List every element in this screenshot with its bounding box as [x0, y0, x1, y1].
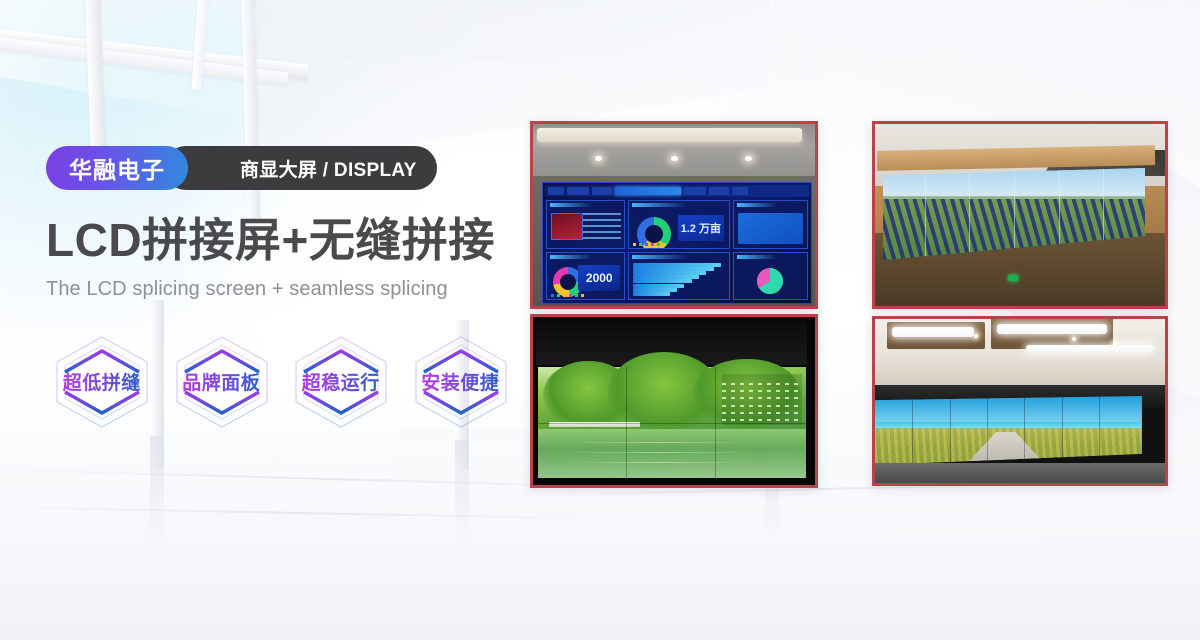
category-pill: 商显大屏 / DISPLAY — [164, 146, 437, 190]
flow-diagram — [738, 213, 803, 244]
pillar-reflection-2 — [455, 440, 469, 540]
page-title: LCD拼接屏+无缝拼接 — [46, 216, 516, 266]
dashboard-panel-intro — [546, 200, 625, 249]
spot-light-3 — [745, 156, 752, 161]
feature-badge-1-label: 超低拼缝 — [63, 368, 141, 395]
photo-content — [875, 319, 1165, 483]
ceiling-light-1 — [892, 327, 973, 337]
photo-content: 1.2 万亩 — [533, 124, 815, 306]
ceiling-light-2 — [997, 324, 1107, 334]
feature-badge-2: 品牌面板 — [166, 329, 278, 435]
sky-region — [875, 396, 1142, 424]
dashboard-metric-1: 1.2 万亩 — [678, 215, 724, 241]
ceiling-beam-horizontal-1 — [0, 26, 309, 80]
dashboard-panel-donut: 1.2 万亩 — [628, 200, 730, 249]
dashboard-legend — [633, 243, 725, 246]
product-photo-willow-pond-video-wall — [530, 314, 818, 488]
pond-water — [538, 429, 806, 478]
product-photo-dashboard-video-wall: 1.2 万亩 — [530, 121, 818, 309]
dashboard-panel-pies — [733, 252, 808, 301]
floor — [875, 463, 1165, 483]
feature-badge-row: 超低拼缝 品牌面板 超稳运行 — [46, 329, 516, 435]
lcd-video-wall-screen — [538, 367, 806, 478]
ceiling-beam-vertical-1 — [85, 0, 107, 170]
feature-badge-4-label: 安装便捷 — [421, 368, 499, 395]
brand-pill-row: 商显大屏 / DISPLAY 华融电子 — [46, 146, 516, 190]
exit-sign — [1008, 275, 1018, 281]
lcd-video-wall-screen: 1.2 万亩 — [542, 182, 812, 304]
photo-content — [875, 124, 1165, 306]
floor-seam-2 — [0, 506, 620, 520]
downlight-2 — [1113, 342, 1117, 346]
downlight-3 — [974, 334, 978, 338]
calendar-overlay — [722, 374, 802, 425]
pillar-reflection-1 — [150, 436, 164, 546]
dashboard-panel-grid: 1.2 万亩 — [546, 200, 808, 300]
product-photo-solar-farm-video-wall — [872, 121, 1168, 309]
dashboard-metric-2: 2000 — [578, 265, 620, 292]
dashboard-top-bar — [545, 185, 809, 197]
photo-content — [533, 317, 815, 485]
ceiling-beam-vertical-3 — [191, 0, 210, 90]
headline-column: 商显大屏 / DISPLAY 华融电子 LCD拼接屏+无缝拼接 The LCD … — [46, 146, 516, 435]
page-subtitle: The LCD splicing screen + seamless splic… — [46, 278, 516, 301]
ceiling-beam-horizontal-2 — [0, 36, 289, 85]
feature-badge-4: 安装便捷 — [405, 329, 517, 435]
lcd-video-wall-screen — [875, 396, 1142, 465]
feature-badge-3: 超稳运行 — [285, 329, 397, 435]
background-facet-a — [0, 0, 430, 120]
dashboard-panel-bars — [628, 252, 730, 301]
feature-badge-3-label: 超稳运行 — [302, 368, 380, 395]
cove-light — [537, 128, 802, 142]
feature-badge-1: 超低拼缝 — [46, 329, 158, 435]
spot-light-1 — [595, 156, 602, 161]
dashboard-panel-metric: 2000 — [546, 252, 625, 301]
pie-chart-group — [734, 265, 807, 298]
bar-chart — [633, 263, 725, 297]
brand-pill: 华融电子 — [46, 146, 188, 190]
dashboard-legend-2 — [551, 294, 620, 297]
product-photo-beach-boardwalk-video-wall — [872, 316, 1168, 486]
promo-banner: 商显大屏 / DISPLAY 华融电子 LCD拼接屏+无缝拼接 The LCD … — [0, 0, 1200, 640]
feature-badge-2-label: 品牌面板 — [182, 368, 260, 395]
dashboard-panel-diagram — [733, 200, 808, 249]
ceiling-light-3 — [1026, 345, 1154, 352]
